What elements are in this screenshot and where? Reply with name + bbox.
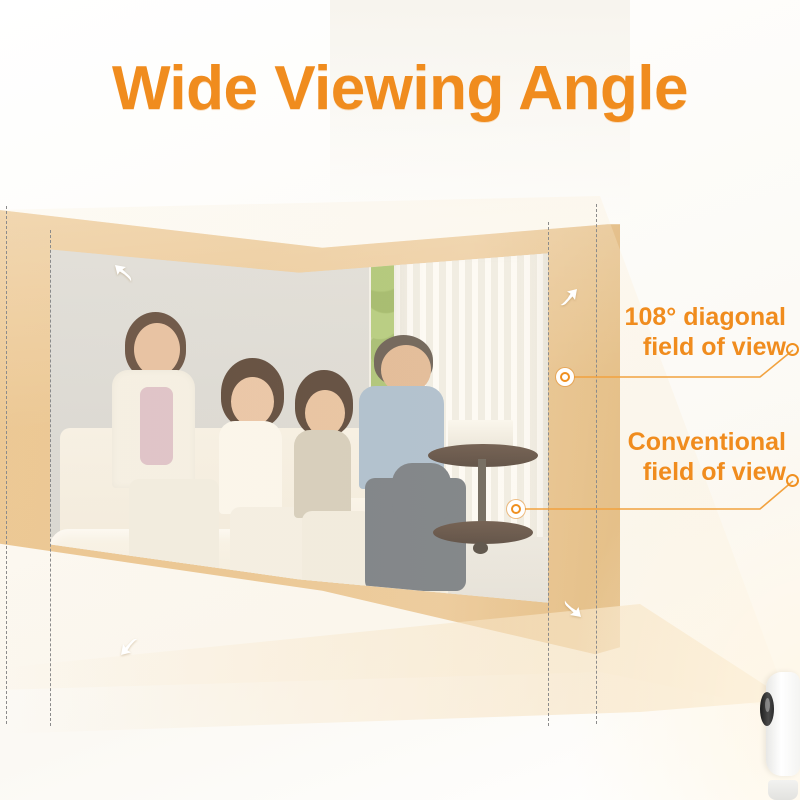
photo-side-table-post bbox=[478, 459, 486, 529]
arrow-down-right-icon bbox=[560, 596, 584, 620]
callout-conventional-fov: Conventional field of view bbox=[628, 428, 786, 487]
wide-angle-scene bbox=[0, 196, 620, 666]
arrow-up-left-icon bbox=[112, 262, 136, 286]
callout-wide-fov: 108° diagonal field of view bbox=[625, 303, 786, 362]
guide-inner-right bbox=[548, 222, 549, 726]
mother-legs bbox=[129, 479, 219, 591]
mother-top bbox=[140, 387, 173, 465]
guide-outer-left bbox=[6, 206, 7, 724]
callout-conventional-fov-line2: field of view bbox=[628, 458, 786, 488]
daughter-body bbox=[219, 421, 282, 514]
conventional-fov-marker[interactable] bbox=[507, 500, 525, 518]
arrow-down-left-icon bbox=[118, 634, 142, 658]
family-on-sofa-photo bbox=[50, 234, 548, 622]
callout-wide-fov-line2: field of view bbox=[625, 333, 786, 363]
page-title: Wide Viewing Angle bbox=[0, 58, 800, 120]
camera-lens-highlight bbox=[765, 698, 770, 712]
photo-person-son bbox=[289, 370, 369, 591]
infographic-canvas: Wide Viewing Angle bbox=[0, 0, 800, 800]
wide-fov-marker[interactable] bbox=[556, 368, 574, 386]
wide-fov-endpoint bbox=[786, 343, 799, 356]
son-body bbox=[294, 430, 351, 518]
father-knee bbox=[392, 463, 451, 524]
conventional-fov-endpoint bbox=[786, 474, 799, 487]
photo-person-mother bbox=[110, 312, 220, 591]
callout-conventional-fov-line1: Conventional bbox=[628, 428, 786, 458]
arrow-up-right-icon bbox=[556, 286, 580, 310]
camera-body bbox=[766, 672, 800, 776]
guide-inner-left bbox=[50, 230, 51, 726]
ip-camera bbox=[754, 672, 800, 800]
camera-stand bbox=[768, 780, 798, 800]
mother-head bbox=[134, 323, 180, 376]
daughter-head bbox=[231, 377, 273, 426]
photo-person-daughter bbox=[214, 358, 299, 591]
guide-outer-right bbox=[596, 204, 597, 724]
callout-wide-fov-line1: 108° diagonal bbox=[625, 303, 786, 333]
